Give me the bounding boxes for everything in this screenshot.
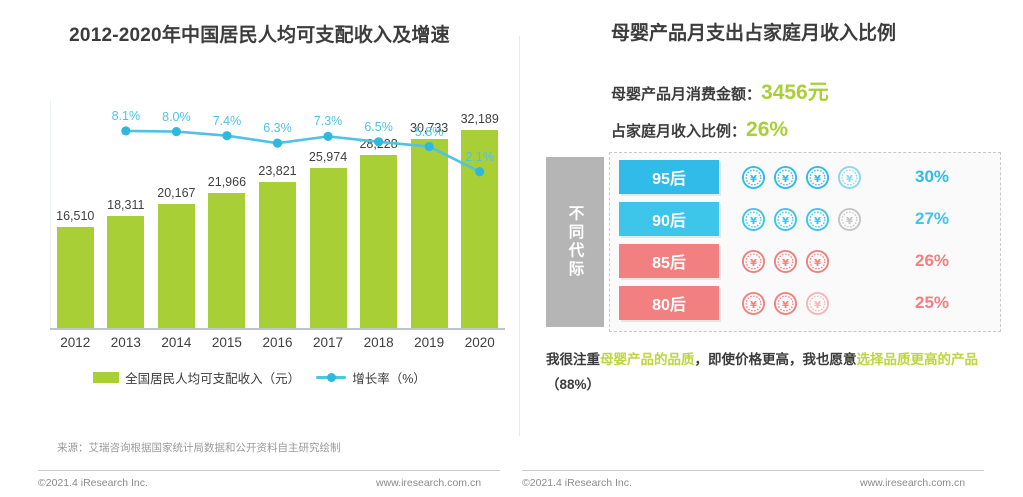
svg-text:¥: ¥ [814,215,821,226]
svg-text:¥: ¥ [846,173,853,184]
table-row: 90后¥¥¥¥27% [609,200,995,238]
footer-url-right[interactable]: www.iresearch.com.cn [860,477,965,489]
line-value-label: 2.1% [465,150,494,164]
yuan-coin-icon: ¥ [773,249,798,274]
yuan-coin-icon: ¥ [741,207,766,232]
x-tick-label: 2020 [454,335,505,350]
line-value-label: 7.3% [314,114,343,128]
quote-part-1: 我很注重 [546,352,600,367]
yuan-coin-icon: ¥ [741,165,766,190]
quote-part-3: （88%） [546,377,600,392]
legend-item-income: 全国居民人均可支配收入（元） [93,368,300,387]
yuan-coin-icon: ¥ [805,291,830,316]
yuan-coin-icon: ¥ [741,291,766,316]
right-panel-title: 母婴产品月支出占家庭月收入比例 [611,18,896,45]
line-data-point [172,127,181,136]
svg-text:¥: ¥ [750,215,757,226]
legend-label-growth: 增长率（%） [352,368,426,387]
svg-text:¥: ¥ [782,215,789,226]
stat-monthly-spend-value: 3456元 [761,81,829,104]
yuan-coin-icon: ¥ [805,207,830,232]
footer-rule-left [38,470,500,471]
x-tick-label: 2017 [303,335,354,350]
x-tick-label: 2012 [50,335,101,350]
table-row: 85后¥¥¥26% [609,242,995,280]
right-panel: 母婴产品月支出占家庭月收入比例 母婴产品月消费金额：3456元 占家庭月收入比例… [519,0,1023,497]
footer-copyright-right: ©2021.4 iResearch Inc. [522,477,632,489]
chart-plot-area: 16,51018,31120,16721,96623,82125,97428,2… [50,100,505,330]
yuan-coin-icon: ¥ [805,249,830,274]
stat-monthly-spend: 母婴产品月消费金额：3456元 [611,76,829,106]
percent-value: 30% [915,167,989,187]
x-axis-tick-labels: 201220132014201520162017201820192020 [50,335,505,357]
svg-text:¥: ¥ [782,173,789,184]
x-tick-label: 2019 [404,335,455,350]
survey-quote: 我很注重母婴产品的品质，即使价格更高，我也愿意选择品质更高的产品（88%） [546,348,986,398]
generation-table: 不同代际 95后¥¥¥¥30%90后¥¥¥¥27%85后¥¥¥26%80后¥¥¥… [546,152,1001,332]
footer-copyright-left: ©2021.4 iResearch Inc. [38,477,148,489]
quote-highlight-2: 选择品质更高的产品 [857,352,979,367]
stat-income-share-value: 26% [746,118,788,141]
line-value-label: 6.5% [364,120,393,134]
line-data-point [121,126,130,135]
line-data-point [323,132,332,141]
line-value-label: 6.3% [263,121,292,135]
yuan-coin-icon: ¥ [837,165,862,190]
stat-income-share-label: 占家庭月收入比例： [611,123,746,140]
infographic-page: 2012-2020年中国居民人均可支配收入及增速 16,51018,31120,… [0,0,1023,497]
svg-text:¥: ¥ [750,257,757,268]
line-data-point [374,137,383,146]
x-tick-label: 2016 [252,335,303,350]
footer-rule-right [522,470,984,471]
source-note-left: 来源：艾瑞咨询根据国家统计局数据和公开资料自主研究绘制 [57,440,341,455]
svg-text:¥: ¥ [814,257,821,268]
generation-group-label: 不同代际 [546,157,604,327]
svg-text:¥: ¥ [782,299,789,310]
line-value-label: 7.4% [213,114,242,128]
yuan-coin-icon: ¥ [805,165,830,190]
coin-row: ¥¥¥¥ [741,165,915,190]
chart-title: 2012-2020年中国居民人均可支配收入及增速 [0,20,519,47]
line-value-label: 5.8% [415,125,444,139]
line-data-point [222,131,231,140]
svg-text:¥: ¥ [782,257,789,268]
svg-text:¥: ¥ [750,173,757,184]
line-data-point [273,139,282,148]
generation-pill: 85后 [619,244,719,278]
line-value-label: 8.1% [112,109,141,123]
x-tick-label: 2014 [151,335,202,350]
generation-pill: 90后 [619,202,719,236]
legend-label-income: 全国居民人均可支配收入（元） [125,368,300,387]
svg-text:¥: ¥ [814,299,821,310]
percent-value: 26% [915,251,989,271]
yuan-coin-icon: ¥ [741,249,766,274]
percent-value: 25% [915,293,989,313]
legend-item-growth: 增长率（%） [316,368,426,387]
table-row: 80后¥¥¥25% [609,284,995,322]
x-tick-label: 2013 [101,335,152,350]
stat-monthly-spend-label: 母婴产品月消费金额： [611,86,761,103]
line-marker-icon [316,372,346,383]
yuan-coin-icon: ¥ [773,291,798,316]
yuan-coin-icon: ¥ [773,207,798,232]
line-value-label: 8.0% [162,110,191,124]
table-row: 95后¥¥¥¥30% [609,158,995,196]
coin-row: ¥¥¥¥ [741,207,915,232]
quote-part-2: ，即使价格更高，我也愿意 [695,352,857,367]
svg-text:¥: ¥ [814,173,821,184]
percent-value: 27% [915,209,989,229]
generation-rows: 95后¥¥¥¥30%90后¥¥¥¥27%85后¥¥¥26%80后¥¥¥25% [609,158,995,326]
generation-pill: 95后 [619,160,719,194]
yuan-coin-icon: ¥ [837,207,862,232]
footer-url-left[interactable]: www.iresearch.com.cn [376,477,481,489]
coin-row: ¥¥¥ [741,291,915,316]
line-data-point [425,142,434,151]
quote-highlight-1: 母婴产品的品质 [600,352,695,367]
x-tick-label: 2018 [353,335,404,350]
line-data-point [475,167,484,176]
svg-text:¥: ¥ [846,215,853,226]
stat-income-share: 占家庭月收入比例：26% [611,118,788,142]
generation-group-label-text: 不同代际 [566,205,583,279]
chart-legend: 全国居民人均可支配收入（元） 增长率（%） [0,368,519,387]
svg-text:¥: ¥ [750,299,757,310]
coin-row: ¥¥¥ [741,249,915,274]
yuan-coin-icon: ¥ [773,165,798,190]
left-panel: 2012-2020年中国居民人均可支配收入及增速 16,51018,31120,… [0,0,519,497]
generation-pill: 80后 [619,286,719,320]
bar-swatch-icon [93,372,119,383]
x-tick-label: 2015 [202,335,253,350]
